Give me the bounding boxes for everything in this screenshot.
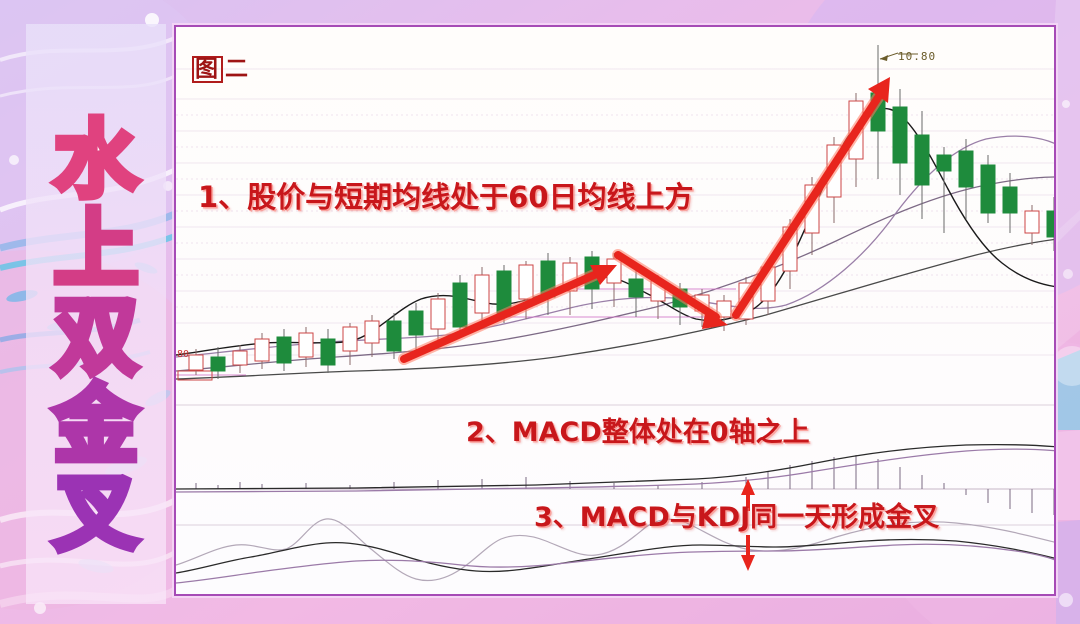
title-char-5: 叉 [54,472,138,554]
figure-label-boxed-char: 图 [192,56,223,83]
title-char-3: 双 [54,296,138,378]
title-char-1: 水 [54,119,138,201]
annotation-3: 3、MACD与KDJ同一天形成金叉 [534,495,939,534]
title-char-2: 上 [54,208,138,290]
left-axis-price-label: 80 [177,349,189,360]
stock-chart-panel: 图二 1、股价与短期均线处于60日均线上方 2、MACD整体处在0轴之上 3、M… [174,25,1056,596]
figure-label-rest: 二 [225,56,250,82]
title-char-4: 金 [54,384,138,466]
peak-price-label: 10.80 [898,50,936,63]
figure-label: 图二 [192,49,250,83]
poster-title-panel: 水 上 双 金 叉 [26,24,166,604]
chart-canvas: 图二 1、股价与短期均线处于60日均线上方 2、MACD整体处在0轴之上 3、M… [176,27,1054,594]
annotation-2: 2、MACD整体处在0轴之上 [466,410,810,449]
annotation-1: 1、股价与短期均线处于60日均线上方 [198,174,694,216]
